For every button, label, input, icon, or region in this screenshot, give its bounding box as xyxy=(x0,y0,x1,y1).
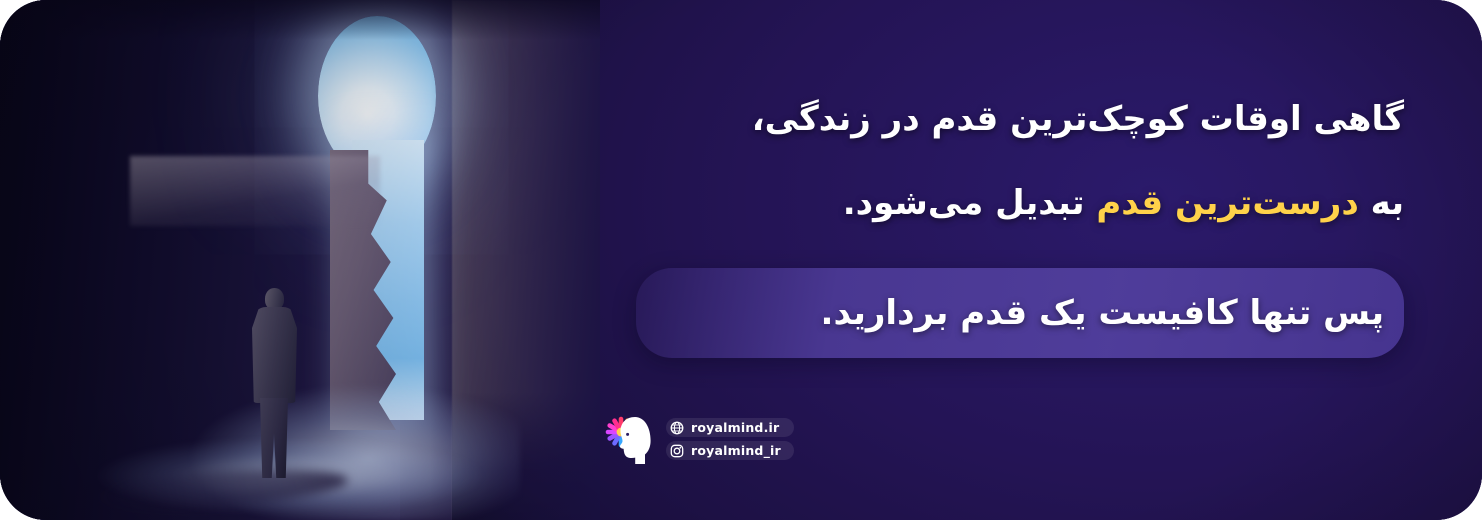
instagram-handle[interactable]: royalmind_ir xyxy=(666,441,794,460)
promo-banner: گاهی اوقات کوچک‌ترین قدم در زندگی، به در… xyxy=(0,0,1482,520)
quote-line-2-highlight: درست‌ترین قدم xyxy=(1096,183,1358,223)
quote-line-2-suffix: تبدیل می‌شود. xyxy=(843,183,1097,223)
instagram-icon xyxy=(670,444,684,458)
head-profile-logo-icon xyxy=(604,410,656,468)
brand-footer: royalmind.ir royalmind_ir xyxy=(604,410,794,468)
globe-icon xyxy=(670,421,684,435)
website-handle[interactable]: royalmind.ir xyxy=(666,418,794,437)
quote-line-1: گاهی اوقات کوچک‌ترین قدم در زندگی، xyxy=(752,96,1404,142)
royalmind-logo xyxy=(604,410,656,468)
quote-line-2-prefix: به xyxy=(1359,183,1404,223)
website-handle-label: royalmind.ir xyxy=(691,421,779,435)
brand-handle-list: royalmind.ir royalmind_ir xyxy=(666,418,794,460)
quote-line-2: به درست‌ترین قدم تبدیل می‌شود. xyxy=(843,180,1404,226)
instagram-handle-label: royalmind_ir xyxy=(691,444,781,458)
quote-line-3: پس تنها کافیست یک قدم بردارید. xyxy=(666,268,1406,358)
